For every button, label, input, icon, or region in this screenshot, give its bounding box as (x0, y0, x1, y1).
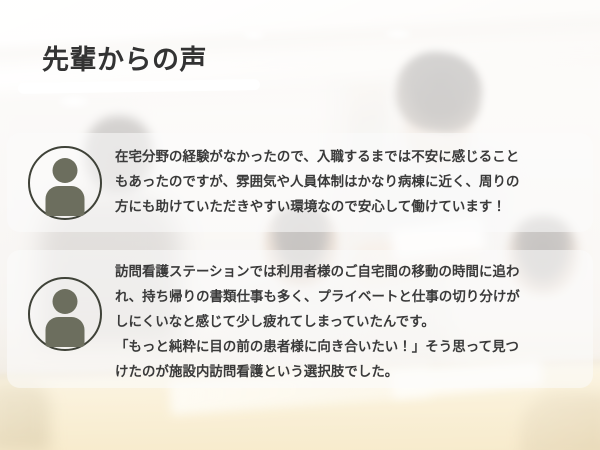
testimonial-text: 訪問看護ステーションでは利用者様のご自宅間の移動の時間に追わ れ、持ち帰りの書類… (102, 260, 520, 385)
testimonial-card: 訪問看護ステーションでは利用者様のご自宅間の移動の時間に追わ れ、持ち帰りの書類… (7, 250, 593, 388)
page-title: 先輩からの声 (42, 42, 207, 80)
avatar-head-shape (53, 289, 78, 314)
testimonial-line: もあったのですが、雰囲気や人員体制はかなり病棟に近く、周りの (115, 170, 519, 195)
testimonial-line: 訪問看護ステーションでは利用者様のご自宅間の移動の時間に追わ (115, 260, 520, 285)
testimonial-line: けたのが施設内訪問看護という選択肢でした。 (115, 360, 520, 385)
person-avatar-icon (28, 277, 102, 351)
testimonial-line: しにくいなと感じて少し疲れてしまっていたんです。 (115, 310, 520, 335)
avatar-head-shape (53, 158, 78, 183)
testimonial-card: 在宅分野の経験がなかったので、入職するまでは不安に感じること もあったのですが、… (7, 133, 593, 232)
testimonial-text: 在宅分野の経験がなかったので、入職するまでは不安に感じること もあったのですが、… (102, 145, 519, 220)
avatar-body-shape (46, 317, 85, 347)
title-underline-bar (18, 79, 260, 94)
page-title-block: 先輩からの声 (18, 42, 338, 96)
testimonial-line: れ、持ち帰りの書類仕事も多く、プライベートと仕事の切り分けが (115, 285, 520, 310)
testimonial-slide: 先輩からの声 在宅分野の経験がなかったので、入職するまでは不安に感じること もあ… (0, 0, 600, 450)
testimonial-line: 在宅分野の経験がなかったので、入職するまでは不安に感じること (115, 145, 519, 170)
testimonial-line: 「もっと純粋に目の前の患者様に向き合いたい！」そう思って見つ (115, 335, 520, 360)
testimonial-line: 方にも助けていただきやすい環境なので安心して働けています！ (115, 195, 519, 220)
avatar-body-shape (46, 186, 85, 216)
person-avatar-icon (28, 146, 102, 220)
